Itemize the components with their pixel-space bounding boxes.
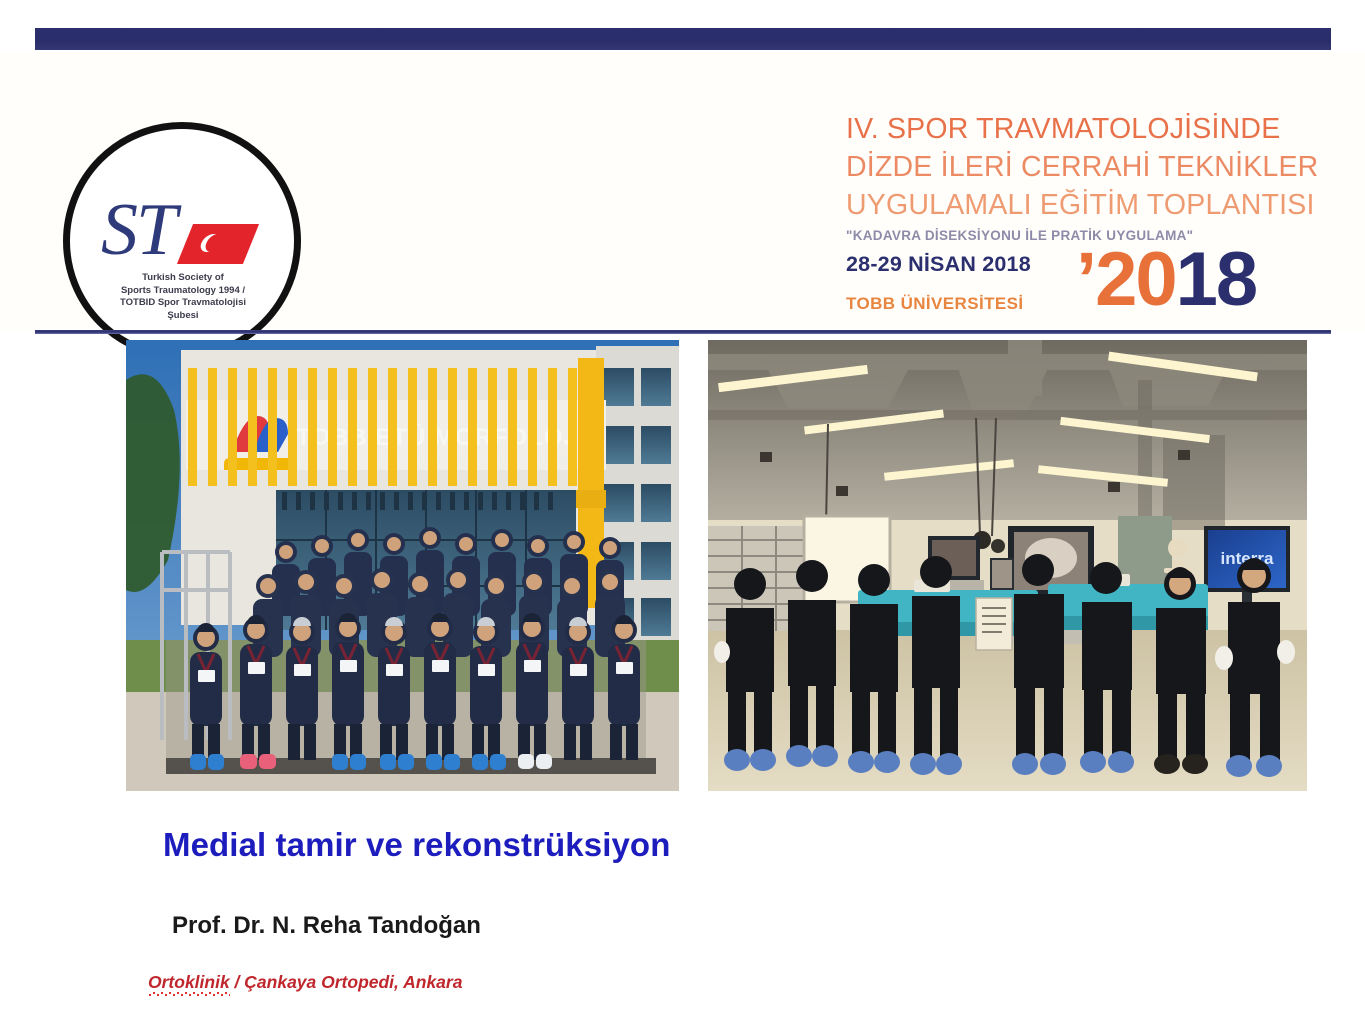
logo-caption-line-1: Turkish Society of <box>73 272 293 285</box>
slide-title: Medial tamir ve rekonstrüksiyon <box>163 826 670 864</box>
presenter-name: Prof. Dr. N. Reha Tandoğan <box>172 912 481 940</box>
event-date: 28-29 NİSAN 2018 <box>846 252 1031 277</box>
event-year-mark-suffix: 18 <box>1176 237 1257 322</box>
affiliation-clinic-name: Ortoklinik <box>148 972 230 993</box>
svg-text:TOBB ETÜ MORFOLOJİ: TOBB ETÜ MORFOLOJİ <box>296 424 586 451</box>
logo-caption-line-2: Sports Traumatology 1994 / <box>73 285 293 298</box>
event-title-line-1: IV. SPOR TRAVMATOLOJİSİNDE <box>846 110 1316 148</box>
header-divider-rule <box>35 330 1331 334</box>
affiliation-rest: / Çankaya Ortopedi, Ankara <box>230 972 463 992</box>
logo-caption-line-4: Şubesi <box>73 310 293 323</box>
logo-caption: Turkish Society of Sports Traumatology 1… <box>73 272 293 322</box>
event-venue: TOBB ÜNİVERSİTESİ <box>846 294 1023 314</box>
event-year-mark-prefix: ’20 <box>1076 237 1176 322</box>
presenter-affiliation: Ortoklinik / Çankaya Ortopedi, Ankara <box>148 972 462 993</box>
event-year-mark: ’2018 <box>1076 240 1256 320</box>
photo-right-illustration: interra <box>708 340 1307 791</box>
event-title-line-2: DİZDE İLERİ CERRAHİ TEKNİKLER <box>846 148 1316 186</box>
event-header-band: ST Turkish Society of Sports Traumatolog… <box>0 52 1365 330</box>
event-title-block: IV. SPOR TRAVMATOLOJİSİNDE DİZDE İLERİ C… <box>846 110 1316 332</box>
event-meta-row: 28-29 NİSAN 2018 TOBB ÜNİVERSİTESİ ’2018 <box>846 252 1316 332</box>
event-title-line-3: UYGULAMALI EĞİTİM TOPLANTISI <box>846 186 1316 224</box>
logo-caption-line-3: TOTBID Spor Travmatolojisi <box>73 297 293 310</box>
photo-left-illustration: TOBB ETÜ MORFOLOJİ TIP FAKÜLTESİ - TEMEL… <box>126 340 679 791</box>
photo-dissection-lab: interra <box>708 340 1307 791</box>
photo-group-outside-building: TOBB ETÜ MORFOLOJİ TIP FAKÜLTESİ - TEMEL… <box>126 340 679 791</box>
header-accent-bar <box>35 28 1331 50</box>
